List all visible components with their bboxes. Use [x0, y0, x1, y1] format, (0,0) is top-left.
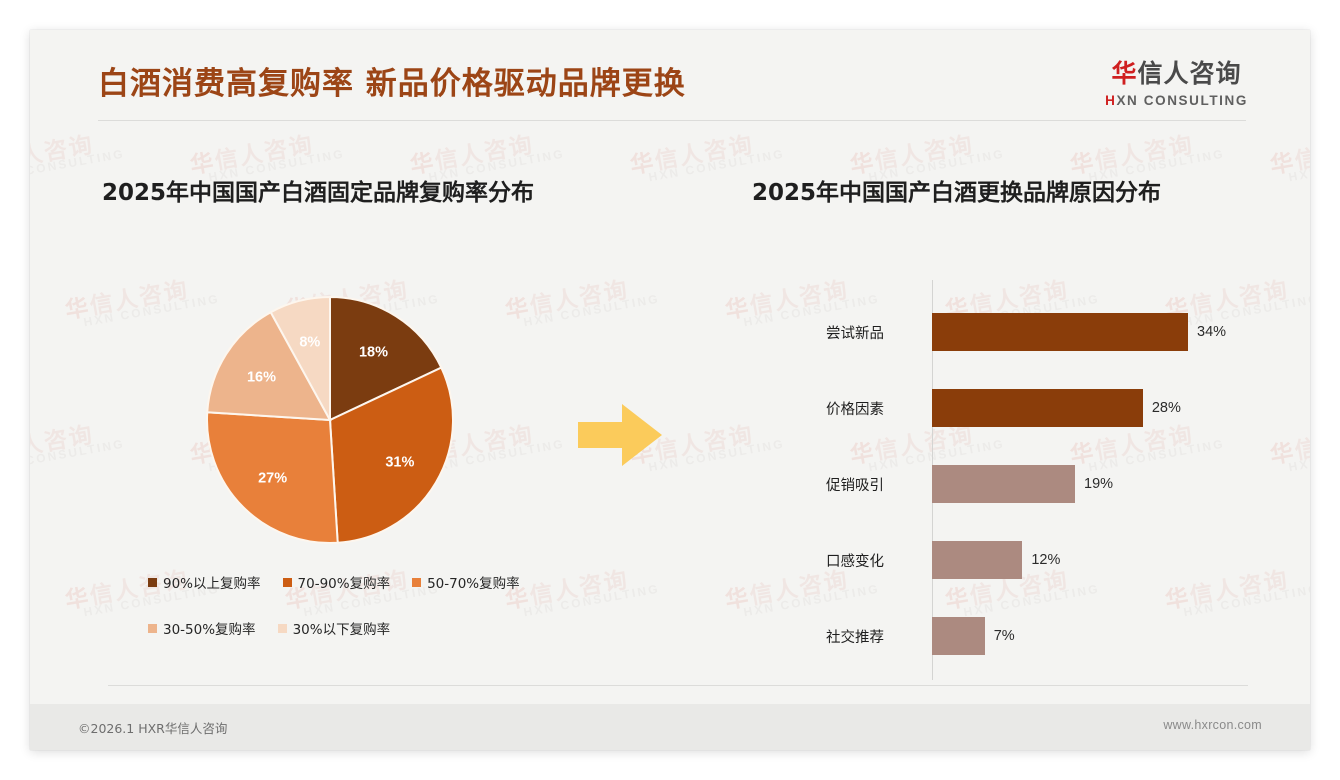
bar-value-label: 19%	[1084, 476, 1113, 492]
bar-chart-title: 2025年中国国产白酒更换品牌原因分布	[752, 173, 1161, 207]
legend-swatch	[283, 578, 292, 587]
logo-chinese: 华信人咨询	[1105, 54, 1248, 90]
slide-header: 白酒消费高复购率 新品价格驱动品牌更换 华信人咨询 HXN CONSULTING	[30, 30, 1310, 130]
slide-footer: ©2026.1 HXR华信人咨询 www.hxrcon.com	[30, 704, 1310, 750]
bar-category-label: 尝试新品	[820, 322, 924, 343]
watermark-tile: 华信人咨询HXN CONSULTING	[63, 272, 220, 332]
legend-label: 30-50%复购率	[163, 618, 256, 638]
legend-swatch	[278, 624, 287, 633]
bar-value-label: 7%	[994, 628, 1015, 644]
bar-chart-row: 口感变化12%	[820, 541, 1260, 579]
legend-label: 30%以下复购率	[293, 618, 391, 638]
watermark-tile: 华信人咨询HXN CONSULTING	[1268, 127, 1310, 187]
pie-chart-legend: 90%以上复购率70-90%复购率50-70%复购率 30-50%复购率30%以…	[148, 572, 608, 664]
legend-label: 50-70%复购率	[427, 572, 520, 592]
bar-value-label: 28%	[1152, 400, 1181, 416]
bar-track: 34%	[932, 313, 1226, 351]
logo-english-accent: H	[1105, 93, 1116, 108]
bar-chart-row: 社交推荐7%	[820, 617, 1260, 655]
legend-row-top: 90%以上复购率70-90%复购率50-70%复购率	[148, 572, 608, 592]
bar-value-label: 12%	[1031, 552, 1060, 568]
legend-item[interactable]: 90%以上复购率	[148, 572, 261, 592]
company-logo: 华信人咨询 HXN CONSULTING	[1105, 54, 1248, 108]
bar-category-label: 促销吸引	[820, 474, 924, 495]
logo-chinese-accent: 华	[1112, 59, 1138, 88]
legend-swatch	[148, 624, 157, 633]
pie-chart: 18%31%27%16%8%	[205, 295, 455, 545]
watermark-tile: 华信人咨询HXN CONSULTING	[1268, 417, 1310, 477]
bar-track: 7%	[932, 617, 1015, 655]
pie-slice-value: 27%	[258, 470, 287, 486]
logo-english: HXN CONSULTING	[1105, 93, 1248, 108]
bar-fill[interactable]	[932, 541, 1022, 579]
legend-item[interactable]: 30-50%复购率	[148, 618, 256, 638]
footnote-divider	[108, 685, 1248, 686]
pie-chart-svg: 18%31%27%16%8%	[205, 295, 455, 545]
legend-label: 70-90%复购率	[298, 572, 391, 592]
bar-chart: 尝试新品34%价格因素28%促销吸引19%口感变化12%社交推荐7%	[820, 280, 1260, 680]
right-arrow-icon	[578, 402, 662, 468]
bar-category-label: 价格因素	[820, 398, 924, 419]
bar-track: 28%	[932, 389, 1181, 427]
legend-swatch	[148, 578, 157, 587]
bar-fill[interactable]	[932, 313, 1188, 351]
bar-fill[interactable]	[932, 465, 1075, 503]
pie-slice-value: 18%	[359, 344, 388, 360]
bar-fill[interactable]	[932, 389, 1143, 427]
legend-item[interactable]: 30%以下复购率	[278, 618, 391, 638]
legend-item[interactable]: 70-90%复购率	[283, 572, 391, 592]
legend-label: 90%以上复购率	[163, 572, 261, 592]
bar-fill[interactable]	[932, 617, 985, 655]
logo-chinese-rest: 信人咨询	[1138, 59, 1242, 88]
bar-chart-row: 价格因素28%	[820, 389, 1260, 427]
pie-slice-value: 31%	[385, 454, 414, 470]
slide-canvas: 华信人咨询HXN CONSULTING华信人咨询HXN CONSULTING华信…	[30, 30, 1310, 750]
page-title: 白酒消费高复购率 新品价格驱动品牌更换	[98, 58, 686, 103]
bar-category-label: 社交推荐	[820, 626, 924, 647]
bar-track: 19%	[932, 465, 1113, 503]
logo-english-rest: XN CONSULTING	[1116, 93, 1248, 108]
bar-value-label: 34%	[1197, 324, 1226, 340]
header-divider	[98, 120, 1246, 121]
footer-website[interactable]: www.hxrcon.com	[1163, 718, 1262, 732]
bar-track: 12%	[932, 541, 1060, 579]
right-arrow-svg	[578, 402, 662, 468]
legend-swatch	[412, 578, 421, 587]
pie-chart-title: 2025年中国国产白酒固定品牌复购率分布	[102, 173, 534, 207]
bar-category-label: 口感变化	[820, 550, 924, 571]
pie-slice-value: 16%	[247, 370, 276, 386]
legend-item[interactable]: 50-70%复购率	[412, 572, 520, 592]
watermark-tile: 华信人咨询HXN CONSULTING	[503, 272, 660, 332]
pie-slice-value: 8%	[299, 334, 320, 350]
legend-row-bottom: 30-50%复购率30%以下复购率	[148, 618, 608, 638]
footer-copyright: ©2026.1 HXR华信人咨询	[78, 718, 227, 737]
bar-chart-row: 尝试新品34%	[820, 313, 1260, 351]
bar-chart-row: 促销吸引19%	[820, 465, 1260, 503]
watermark-tile: 华信人咨询HXN CONSULTING	[30, 417, 126, 477]
